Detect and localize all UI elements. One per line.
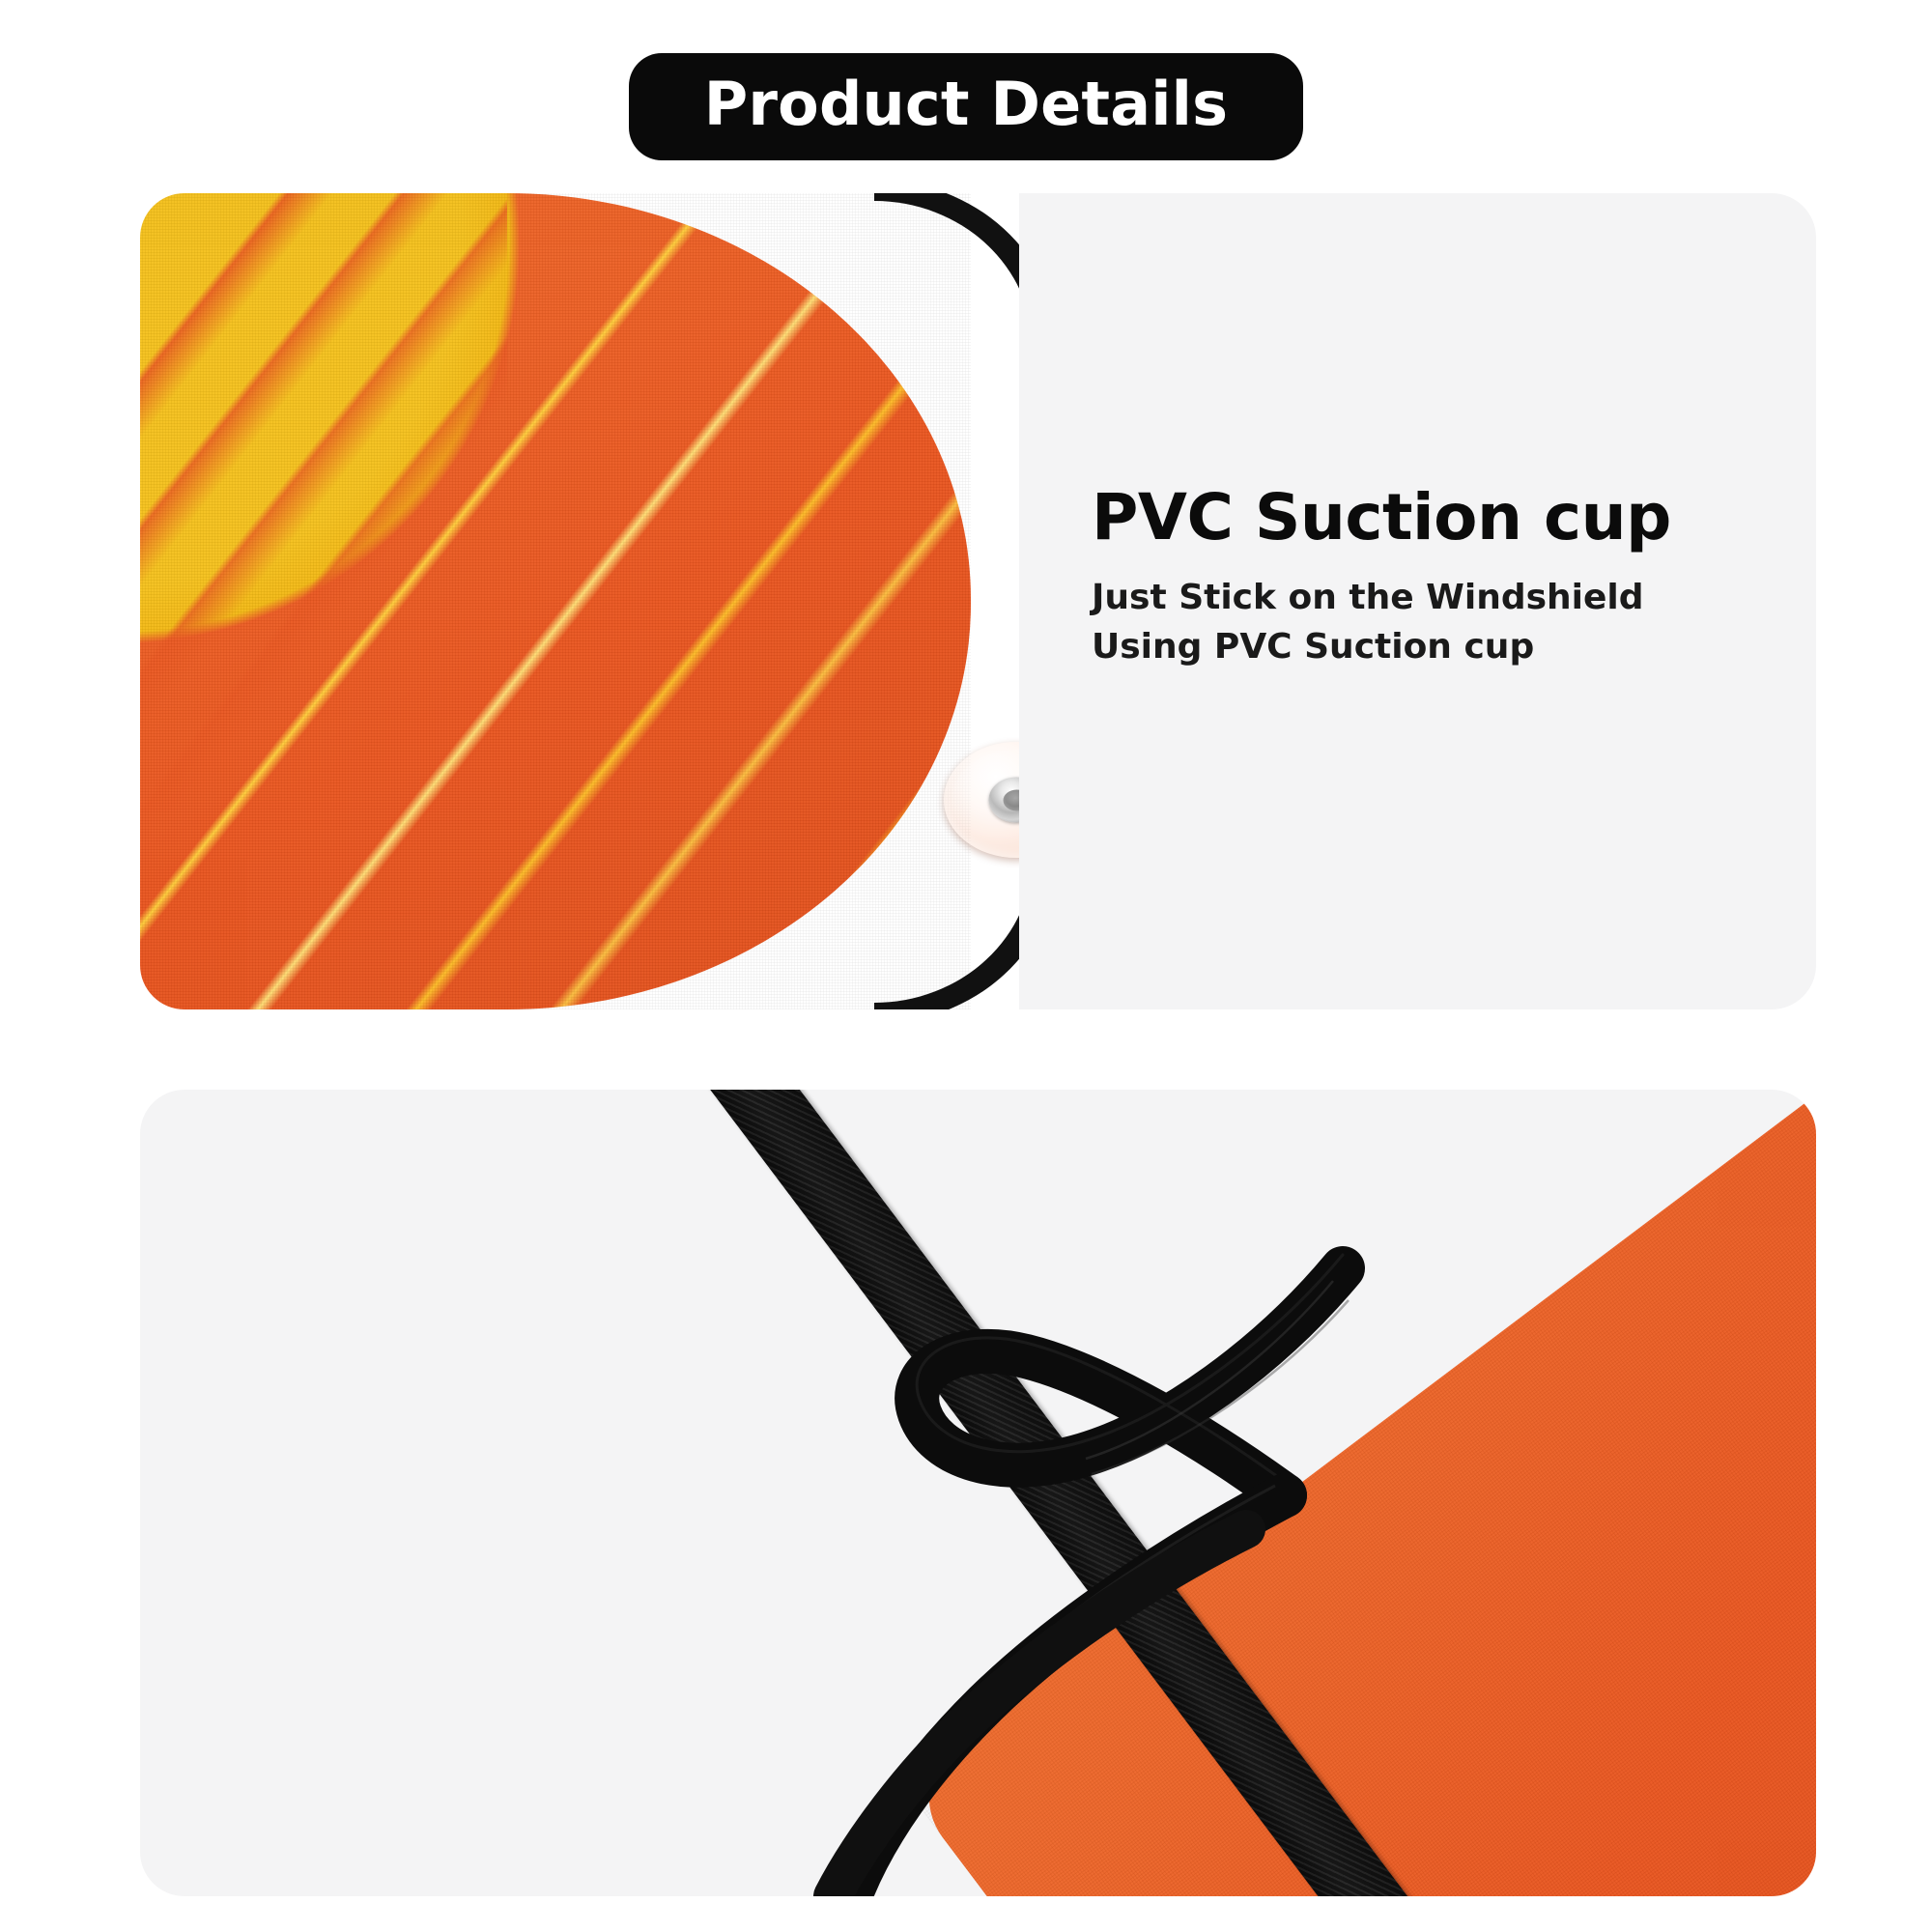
feature-subtitle-line: Using PVC Suction cup bbox=[1092, 622, 1816, 671]
section-title-badge: Product Details bbox=[629, 53, 1304, 160]
sun-rays-print bbox=[140, 193, 507, 811]
feature-text-pvc-suction-cup: PVC Suction cup Just Stick on the Windsh… bbox=[1092, 483, 1816, 671]
feature-card-pvc-suction-cup: PVC Suction cup Just Stick on the Windsh… bbox=[140, 193, 1816, 1009]
feature-subtitle-line: Just Stick on the Windshield bbox=[1092, 573, 1816, 622]
feature-card-storage-strap: Storage Strap Foldable, Fast and Easy to… bbox=[140, 1090, 1816, 1896]
feature-title-pvc-suction-cup: PVC Suction cup bbox=[1092, 483, 1816, 552]
page-header: Product Details bbox=[0, 53, 1932, 160]
product-details-page: Product Details PVC Suction cup Just Sti… bbox=[0, 0, 1932, 1932]
feature-image-pvc-suction-cup bbox=[140, 193, 1019, 1009]
page-title: Product Details bbox=[704, 72, 1229, 135]
feature-subtitle-pvc-suction-cup: Just Stick on the Windshield Using PVC S… bbox=[1092, 573, 1816, 671]
feature-image-storage-strap bbox=[667, 1090, 1816, 1896]
orange-sunshade-fabric bbox=[140, 193, 971, 1009]
black-binding-edge bbox=[874, 193, 1019, 1009]
fabric-weave-texture bbox=[140, 193, 971, 1009]
metal-screw-center-icon bbox=[989, 778, 1020, 823]
